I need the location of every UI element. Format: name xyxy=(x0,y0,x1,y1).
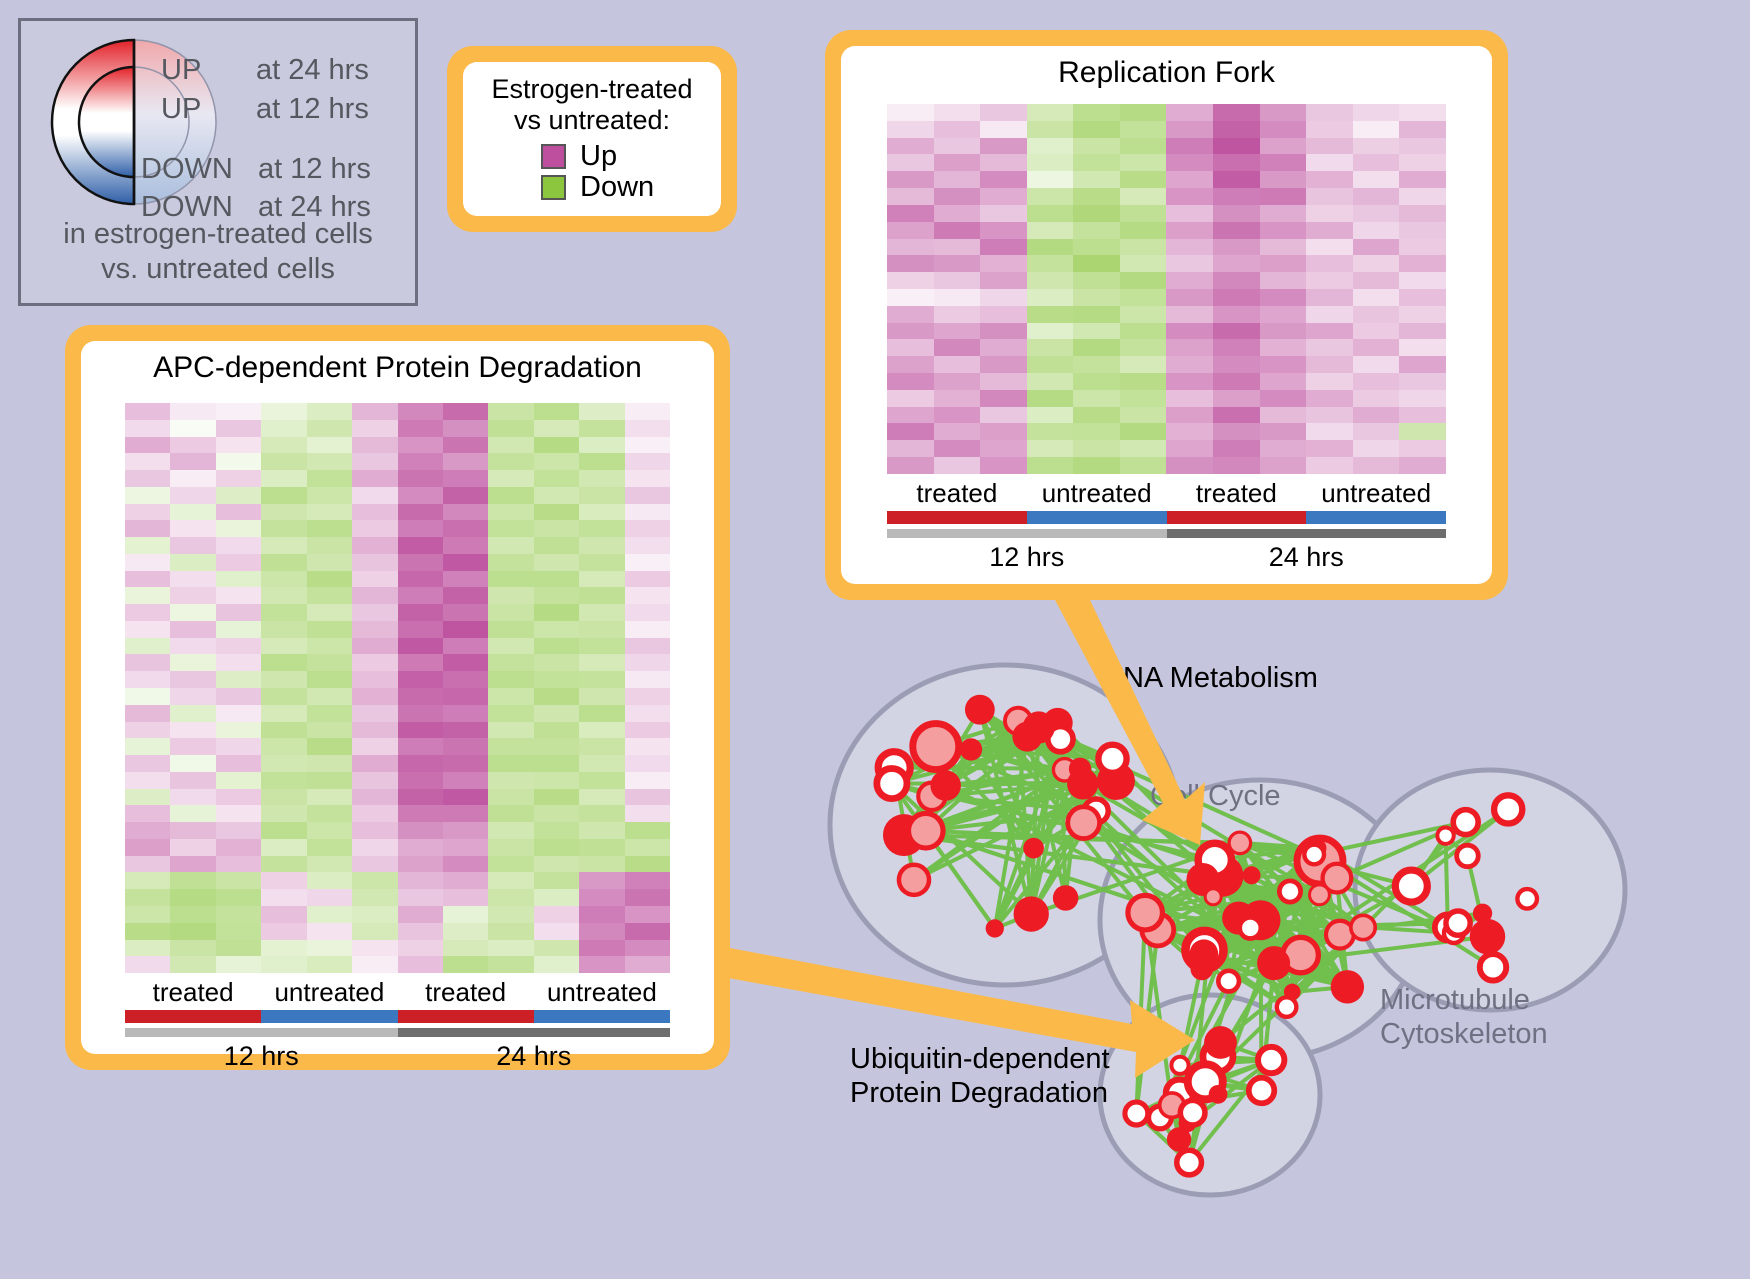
heatmap-row xyxy=(125,688,670,705)
heatmap-cell xyxy=(1166,205,1213,222)
heatmap-cell xyxy=(934,457,981,474)
network-node[interactable] xyxy=(1494,795,1522,823)
legend-label-down: Down xyxy=(580,173,654,202)
network-node[interactable] xyxy=(1180,1100,1205,1125)
heatmap-cell xyxy=(443,437,488,454)
network-node[interactable] xyxy=(1190,957,1213,980)
heatmap-cell xyxy=(887,289,934,306)
apc-degradation-title: APC-dependent Protein Degradation xyxy=(81,341,714,385)
heatmap-cell xyxy=(216,822,261,839)
heatmap-cell xyxy=(170,722,215,739)
heatmap-cell xyxy=(1027,323,1074,340)
heatmap-cell xyxy=(352,621,397,638)
network-node[interactable] xyxy=(1331,970,1364,1003)
rf-condition-label: treated xyxy=(887,478,1027,509)
network-node[interactable] xyxy=(1473,904,1492,923)
heatmap-row xyxy=(125,705,670,722)
heatmap-cell xyxy=(352,839,397,856)
heatmap-cell xyxy=(579,705,624,722)
heatmap-cell xyxy=(1399,104,1446,121)
heatmap-row xyxy=(125,738,670,755)
heatmap-cell xyxy=(1166,239,1213,256)
heatmap-cell xyxy=(170,872,215,889)
heatmap-cell xyxy=(1353,121,1400,138)
rf-time-label: 12 hrs xyxy=(887,542,1167,573)
heatmap-cell xyxy=(170,638,215,655)
heatmap-cell xyxy=(534,839,579,856)
network-node[interactable] xyxy=(1240,917,1261,938)
heatmap-cell xyxy=(579,822,624,839)
network-node[interactable] xyxy=(965,695,995,725)
heatmap-cell xyxy=(261,839,306,856)
heatmap-cell xyxy=(216,621,261,638)
heatmap-cell xyxy=(1120,356,1167,373)
heatmap-cell xyxy=(1120,154,1167,171)
apc-condition-bar xyxy=(125,1010,670,1023)
network-node[interactable] xyxy=(1279,881,1300,902)
heatmap-cell xyxy=(534,755,579,772)
heatmap-cell xyxy=(1166,104,1213,121)
heatmap-cell xyxy=(1260,104,1307,121)
heatmap-cell xyxy=(488,571,533,588)
heatmap-cell xyxy=(488,604,533,621)
network-node[interactable] xyxy=(899,865,929,895)
heatmap-cell xyxy=(488,504,533,521)
network-node[interactable] xyxy=(1446,911,1470,935)
heatmap-cell xyxy=(625,738,670,755)
heatmap-row xyxy=(125,587,670,604)
heatmap-cell xyxy=(579,604,624,621)
network-node[interactable] xyxy=(1457,845,1479,867)
heatmap-cell xyxy=(887,222,934,239)
heatmap-cell xyxy=(1306,239,1353,256)
heatmap-cell xyxy=(1306,423,1353,440)
heatmap-cell xyxy=(1120,205,1167,222)
heatmap-cell xyxy=(1027,407,1074,424)
heatmap-cell xyxy=(216,587,261,604)
heatmap-cell xyxy=(1353,390,1400,407)
heatmap-cell xyxy=(1213,356,1260,373)
heatmap-row xyxy=(125,956,670,973)
heatmap-cell xyxy=(1120,457,1167,474)
heatmap-cell xyxy=(934,255,981,272)
heatmap-row xyxy=(887,188,1446,205)
heatmap-cell xyxy=(1073,457,1120,474)
heatmap-cell xyxy=(1260,289,1307,306)
legend-item-up: Up xyxy=(541,142,707,171)
heatmap-cell xyxy=(216,839,261,856)
rf-condition-bar xyxy=(887,511,1446,524)
heatmap-cell xyxy=(579,420,624,437)
heatmap-cell xyxy=(398,940,443,957)
heatmap-cell xyxy=(1399,339,1446,356)
heatmap-cell xyxy=(887,306,934,323)
heatmap-cell xyxy=(216,956,261,973)
heatmap-cell xyxy=(307,738,352,755)
network-node[interactable] xyxy=(1395,870,1427,902)
network-node[interactable] xyxy=(1125,1102,1148,1125)
heatmap-cell xyxy=(443,772,488,789)
heatmap-cell xyxy=(980,356,1027,373)
heatmap-cell xyxy=(398,839,443,856)
heatmap-cell xyxy=(980,373,1027,390)
heatmap-cell xyxy=(1073,205,1120,222)
heatmap-cell xyxy=(488,420,533,437)
heatmap-cell xyxy=(261,923,306,940)
heatmap-cell xyxy=(216,554,261,571)
heatmap-cell xyxy=(216,571,261,588)
heatmap-cell xyxy=(534,923,579,940)
heatmap-cell xyxy=(579,755,624,772)
heatmap-row xyxy=(125,940,670,957)
heatmap-cell xyxy=(1213,457,1260,474)
heatmap-cell xyxy=(488,403,533,420)
heatmap-cell xyxy=(534,487,579,504)
network-node[interactable] xyxy=(1249,1078,1274,1103)
color-key-footer-line1: in estrogen-treated cells xyxy=(21,217,415,252)
heatmap-cell xyxy=(887,390,934,407)
heatmap-cell xyxy=(534,504,579,521)
heatmap-cell xyxy=(625,537,670,554)
heatmap-cell xyxy=(1306,138,1353,155)
heatmap-cell xyxy=(352,722,397,739)
rf-time-bar xyxy=(887,529,1446,538)
heatmap-cell xyxy=(1399,255,1446,272)
heatmap-cell xyxy=(1073,121,1120,138)
network-node[interactable] xyxy=(1098,745,1126,773)
heatmap-cell xyxy=(352,872,397,889)
heatmap-row xyxy=(125,504,670,521)
heatmap-cell xyxy=(352,705,397,722)
heatmap-cell xyxy=(1027,138,1074,155)
heatmap-cell xyxy=(307,839,352,856)
apc-time-bar xyxy=(125,1028,670,1037)
heatmap-cell xyxy=(1399,205,1446,222)
heatmap-cell xyxy=(1399,188,1446,205)
key-direction-0: UP xyxy=(161,54,201,87)
network-node[interactable] xyxy=(1258,1047,1284,1073)
color-key-footer: in estrogen-treated cells vs. untreated … xyxy=(21,217,415,288)
heatmap-cell xyxy=(307,856,352,873)
heatmap-cell xyxy=(352,738,397,755)
heatmap-cell xyxy=(1306,339,1353,356)
heatmap-cell xyxy=(170,923,215,940)
heatmap-cell xyxy=(1166,121,1213,138)
heatmap-cell xyxy=(1166,222,1213,239)
heatmap-cell xyxy=(625,722,670,739)
heatmap-row xyxy=(125,604,670,621)
heatmap-cell xyxy=(579,722,624,739)
heatmap-cell xyxy=(352,654,397,671)
heatmap-cell xyxy=(1073,423,1120,440)
network-node[interactable] xyxy=(1218,971,1239,992)
heatmap-cell xyxy=(307,520,352,537)
heatmap-cell xyxy=(1213,255,1260,272)
heatmap-cell xyxy=(1213,306,1260,323)
network-node[interactable] xyxy=(1351,915,1375,939)
heatmap-cell xyxy=(443,587,488,604)
heatmap-cell xyxy=(1306,390,1353,407)
heatmap-cell xyxy=(1260,255,1307,272)
heatmap-cell xyxy=(579,554,624,571)
heatmap-row xyxy=(887,440,1446,457)
cluster-label-ubiquitin-line1: Ubiquitin-dependent xyxy=(850,1042,1110,1076)
heatmap-cell xyxy=(307,554,352,571)
heatmap-cell xyxy=(398,604,443,621)
heatmap-cell xyxy=(216,487,261,504)
heatmap-row xyxy=(125,554,670,571)
network-node[interactable] xyxy=(1053,885,1078,910)
heatmap-cell xyxy=(1166,138,1213,155)
network-node[interactable] xyxy=(1067,768,1098,799)
heatmap-cell xyxy=(307,504,352,521)
network-node[interactable] xyxy=(1243,866,1261,884)
heatmap-cell xyxy=(625,705,670,722)
heatmap-cell xyxy=(307,688,352,705)
heatmap-cell xyxy=(261,856,306,873)
network-node[interactable] xyxy=(1437,827,1453,843)
heatmap-cell xyxy=(1213,373,1260,390)
heatmap-cell xyxy=(307,621,352,638)
heatmap-cell xyxy=(307,437,352,454)
heatmap-cell xyxy=(934,390,981,407)
network-node[interactable] xyxy=(1167,1127,1191,1151)
heatmap-cell xyxy=(216,789,261,806)
heatmap-cell xyxy=(980,239,1027,256)
heatmap-row xyxy=(125,520,670,537)
network-node[interactable] xyxy=(986,919,1004,937)
rf-condition-label: untreated xyxy=(1027,478,1167,509)
heatmap-cell xyxy=(170,755,215,772)
heatmap-cell xyxy=(170,453,215,470)
heatmap-cell xyxy=(1073,356,1120,373)
legend-swatch-up-icon xyxy=(541,144,566,169)
heatmap-cell xyxy=(1120,339,1167,356)
heatmap-cell xyxy=(352,688,397,705)
heatmap-cell xyxy=(261,772,306,789)
heatmap-cell xyxy=(398,889,443,906)
heatmap-cell xyxy=(307,722,352,739)
network-node[interactable] xyxy=(913,724,959,770)
network-node[interactable] xyxy=(1204,1026,1237,1059)
network-node[interactable] xyxy=(1310,885,1330,905)
heatmap-cell xyxy=(488,705,533,722)
apc-degradation-axis: treateduntreatedtreateduntreated 12 hrs2… xyxy=(125,977,670,1072)
network-node[interactable] xyxy=(930,770,961,801)
heatmap-cell xyxy=(1353,188,1400,205)
heatmap-cell xyxy=(125,772,170,789)
heatmap-cell xyxy=(443,906,488,923)
network-node[interactable] xyxy=(1229,832,1251,854)
heatmap-cell xyxy=(170,856,215,873)
heatmap-cell xyxy=(352,554,397,571)
network-node[interactable] xyxy=(877,768,907,798)
heatmap-cell xyxy=(1399,457,1446,474)
heatmap-cell xyxy=(887,255,934,272)
color-key-box: UP at 24 hrs UP at 12 hrs DOWN at 12 hrs… xyxy=(18,18,418,306)
heatmap-cell xyxy=(625,839,670,856)
heatmap-cell xyxy=(1166,188,1213,205)
heatmap-cell xyxy=(443,705,488,722)
heatmap-cell xyxy=(1166,306,1213,323)
heatmap-cell xyxy=(1027,306,1074,323)
heatmap-cell xyxy=(579,437,624,454)
heatmap-cell xyxy=(170,688,215,705)
heatmap-cell xyxy=(261,956,306,973)
cluster-label-ubiquitin-line2: Protein Degradation xyxy=(850,1076,1110,1110)
heatmap-cell xyxy=(625,956,670,973)
heatmap-cell xyxy=(1073,323,1120,340)
heatmap-cell xyxy=(625,940,670,957)
heatmap-row xyxy=(887,138,1446,155)
heatmap-cell xyxy=(443,604,488,621)
heatmap-row xyxy=(887,154,1446,171)
heatmap-cell xyxy=(352,487,397,504)
heatmap-cell xyxy=(307,889,352,906)
heatmap-cell xyxy=(488,437,533,454)
apc-condition-label: treated xyxy=(398,977,534,1008)
heatmap-cell xyxy=(261,571,306,588)
heatmap-cell xyxy=(488,722,533,739)
heatmap-cell xyxy=(352,470,397,487)
heatmap-cell xyxy=(170,654,215,671)
heatmap-cell xyxy=(980,272,1027,289)
heatmap-cell xyxy=(625,789,670,806)
heatmap-row xyxy=(887,339,1446,356)
network-node[interactable] xyxy=(1453,810,1478,835)
heatmap-cell xyxy=(1213,138,1260,155)
heatmap-row xyxy=(887,457,1446,474)
heatmap-cell xyxy=(1306,121,1353,138)
heatmap-cell xyxy=(1260,272,1307,289)
heatmap-cell xyxy=(534,889,579,906)
heatmap-cell xyxy=(125,403,170,420)
network-node[interactable] xyxy=(1012,722,1042,752)
heatmap-cell xyxy=(1260,390,1307,407)
heatmap-cell xyxy=(1120,104,1167,121)
heatmap-cell xyxy=(443,923,488,940)
heatmap-row xyxy=(125,772,670,789)
heatmap-cell xyxy=(125,638,170,655)
heatmap-cell xyxy=(1260,138,1307,155)
heatmap-cell xyxy=(579,805,624,822)
heatmap-cell xyxy=(1260,407,1307,424)
heatmap-cell xyxy=(488,671,533,688)
heatmap-cell xyxy=(443,554,488,571)
heatmap-cell xyxy=(443,487,488,504)
network-node[interactable] xyxy=(1128,895,1163,930)
heatmap-cell xyxy=(261,822,306,839)
heatmap-cell xyxy=(1306,306,1353,323)
heatmap-cell xyxy=(625,906,670,923)
network-node[interactable] xyxy=(1014,896,1049,931)
heatmap-cell xyxy=(934,272,981,289)
heatmap-cell xyxy=(579,889,624,906)
heatmap-row xyxy=(125,805,670,822)
heatmap-cell xyxy=(625,403,670,420)
heatmap-cell xyxy=(980,121,1027,138)
heatmap-cell xyxy=(1399,171,1446,188)
network-node[interactable] xyxy=(1470,919,1506,955)
network-node[interactable] xyxy=(1205,889,1221,905)
heatmap-cell xyxy=(1120,407,1167,424)
heatmap-cell xyxy=(488,638,533,655)
heatmap-cell xyxy=(170,705,215,722)
heatmap-cell xyxy=(934,138,981,155)
heatmap-cell xyxy=(887,423,934,440)
heatmap-cell xyxy=(980,171,1027,188)
heatmap-cell xyxy=(170,520,215,537)
heatmap-cell xyxy=(1073,373,1120,390)
network-node[interactable] xyxy=(1171,1057,1188,1074)
heatmap-cell xyxy=(1166,289,1213,306)
network-node[interactable] xyxy=(1177,1150,1202,1175)
heatmap-cell xyxy=(887,171,934,188)
heatmap-cell xyxy=(1399,323,1446,340)
cluster-label-microtubule-line1: Microtubule xyxy=(1380,983,1548,1017)
apc-time-labels: 12 hrs24 hrs xyxy=(125,1041,670,1072)
network-node[interactable] xyxy=(1209,1085,1228,1104)
network-node[interactable] xyxy=(908,813,943,848)
network-node[interactable] xyxy=(1023,838,1044,859)
heatmap-cell xyxy=(887,457,934,474)
heatmap-cell xyxy=(625,923,670,940)
legend-swatch-down-icon xyxy=(541,175,566,200)
heatmap-cell xyxy=(934,323,981,340)
rf-condition-swatch xyxy=(1167,511,1307,524)
heatmap-cell xyxy=(625,587,670,604)
network-node[interactable] xyxy=(1262,949,1290,977)
heatmap-row xyxy=(887,423,1446,440)
heatmap-cell xyxy=(1027,457,1074,474)
heatmap-cell xyxy=(625,772,670,789)
heatmap-cell xyxy=(1120,121,1167,138)
network-node[interactable] xyxy=(1480,954,1506,980)
heatmap-cell xyxy=(1120,272,1167,289)
heatmap-cell xyxy=(488,940,533,957)
heatmap-cell xyxy=(261,671,306,688)
heatmap-cell xyxy=(1073,239,1120,256)
legend-title-line1: Estrogen-treated xyxy=(477,74,707,105)
network-node[interactable] xyxy=(1517,889,1537,909)
heatmap-row xyxy=(125,487,670,504)
network-node[interactable] xyxy=(1304,845,1324,865)
network-node[interactable] xyxy=(1068,807,1100,839)
heatmap-row xyxy=(125,923,670,940)
heatmap-cell xyxy=(443,571,488,588)
heatmap-cell xyxy=(216,705,261,722)
heatmap-cell xyxy=(125,923,170,940)
heatmap-cell xyxy=(1353,239,1400,256)
heatmap-cell xyxy=(170,805,215,822)
heatmap-cell xyxy=(307,940,352,957)
network-node[interactable] xyxy=(960,738,982,760)
network-node[interactable] xyxy=(1277,997,1297,1017)
heatmap-cell xyxy=(307,403,352,420)
heatmap-cell xyxy=(170,889,215,906)
heatmap-cell xyxy=(1399,222,1446,239)
heatmap-cell xyxy=(488,772,533,789)
heatmap-cell xyxy=(887,323,934,340)
heatmap-cell xyxy=(1306,407,1353,424)
apc-condition-label: untreated xyxy=(261,977,397,1008)
heatmap-cell xyxy=(125,872,170,889)
heatmap-cell xyxy=(534,437,579,454)
heatmap-cell xyxy=(261,889,306,906)
heatmap-cell xyxy=(1260,423,1307,440)
heatmap-cell xyxy=(307,772,352,789)
heatmap-cell xyxy=(1353,138,1400,155)
